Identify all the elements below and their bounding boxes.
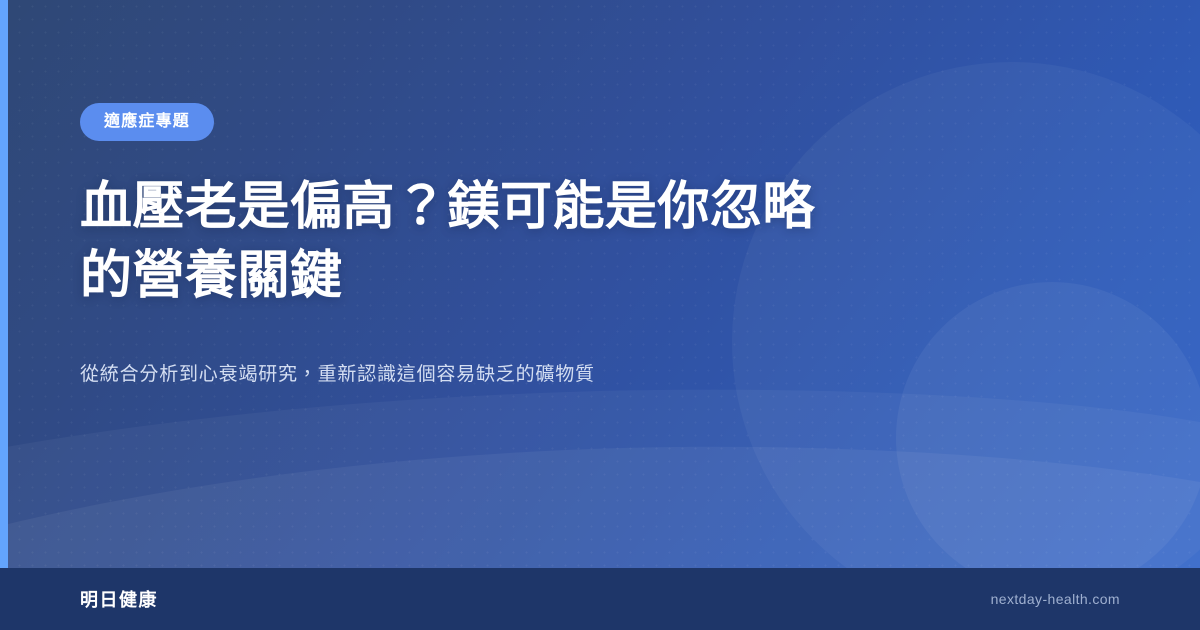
card-content: 適應症專題 血壓老是偏高？鎂可能是你忽略 的營養關鍵 從統合分析到心衰竭研究，重… bbox=[80, 0, 1110, 568]
share-card: 適應症專題 血壓老是偏高？鎂可能是你忽略 的營養關鍵 從統合分析到心衰竭研究，重… bbox=[0, 0, 1200, 630]
card-footer: 明日健康 nextday-health.com bbox=[0, 568, 1200, 630]
page-title-line-1: 血壓老是偏高？鎂可能是你忽略 bbox=[80, 178, 815, 236]
left-accent-bar bbox=[0, 0, 8, 568]
site-url[interactable]: nextday-health.com bbox=[991, 591, 1120, 607]
page-subtitle: 從統合分析到心衰竭研究，重新認識這個容易缺乏的礦物質 bbox=[80, 360, 920, 390]
page-title-line-2: 的營養關鍵 bbox=[80, 247, 343, 305]
page-title: 血壓老是偏高？鎂可能是你忽略 的營養關鍵 bbox=[80, 173, 910, 310]
category-badge[interactable]: 適應症專題 bbox=[80, 103, 214, 141]
brand-name: 明日健康 bbox=[80, 586, 158, 612]
